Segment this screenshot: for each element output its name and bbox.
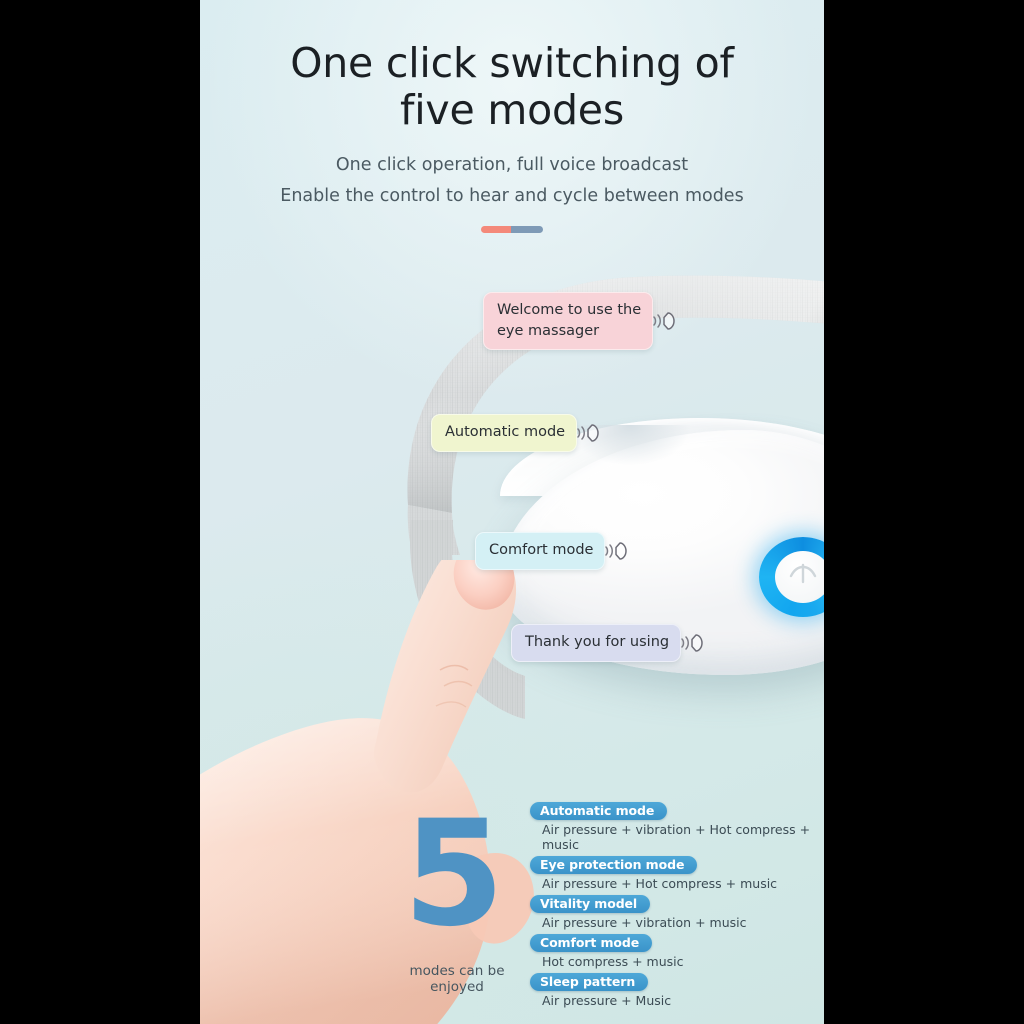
mode-name-pill: Automatic mode bbox=[530, 802, 667, 820]
mode-description: Hot compress + music bbox=[530, 952, 822, 972]
speaker-icon bbox=[679, 628, 709, 658]
voice-bubble-text: Thank you for using bbox=[511, 624, 681, 662]
mode-description: Air pressure + vibration + music bbox=[530, 913, 822, 933]
power-icon bbox=[776, 556, 824, 600]
speaker-icon bbox=[575, 418, 605, 448]
mode-name-pill: Eye protection mode bbox=[530, 856, 697, 874]
mode-description: Air pressure + Music bbox=[530, 991, 822, 1011]
list-item: Sleep pattern Air pressure + Music bbox=[530, 973, 822, 1011]
speaker-icon bbox=[651, 306, 681, 336]
list-item: Comfort mode Hot compress + music bbox=[530, 934, 822, 972]
voice-bubble-text: Welcome to use the eye massager bbox=[483, 292, 653, 350]
list-item: Eye protection mode Air pressure + Hot c… bbox=[530, 856, 822, 894]
mode-description: Air pressure + vibration + Hot compress … bbox=[530, 820, 822, 855]
letterbox-left bbox=[0, 0, 200, 1024]
mode-count-number: 5 bbox=[403, 812, 501, 938]
screenshot-stage: One click switching of five modes One cl… bbox=[0, 0, 1024, 1024]
mode-count-caption: modes can be enjoyed bbox=[386, 963, 528, 995]
product-poster: One click switching of five modes One cl… bbox=[200, 0, 824, 1024]
mode-description: Air pressure + Hot compress + music bbox=[530, 874, 822, 894]
voice-bubble-thank-you: Thank you for using bbox=[511, 624, 709, 662]
speaker-icon bbox=[603, 536, 633, 566]
voice-bubble-automatic-mode: Automatic mode bbox=[431, 414, 605, 452]
mode-name-pill: Comfort mode bbox=[530, 934, 652, 952]
mode-name-pill: Vitality model bbox=[530, 895, 650, 913]
voice-bubble-welcome: Welcome to use the eye massager bbox=[483, 292, 681, 350]
list-item: Automatic mode Air pressure + vibration … bbox=[530, 802, 822, 855]
voice-bubble-text: Automatic mode bbox=[431, 414, 577, 452]
mode-list: Automatic mode Air pressure + vibration … bbox=[530, 802, 822, 1012]
letterbox-right bbox=[824, 0, 1024, 1024]
mode-name-pill: Sleep pattern bbox=[530, 973, 648, 991]
list-item: Vitality model Air pressure + vibration … bbox=[530, 895, 822, 933]
voice-bubble-text: Comfort mode bbox=[475, 532, 605, 570]
voice-bubble-comfort-mode: Comfort mode bbox=[475, 532, 633, 570]
